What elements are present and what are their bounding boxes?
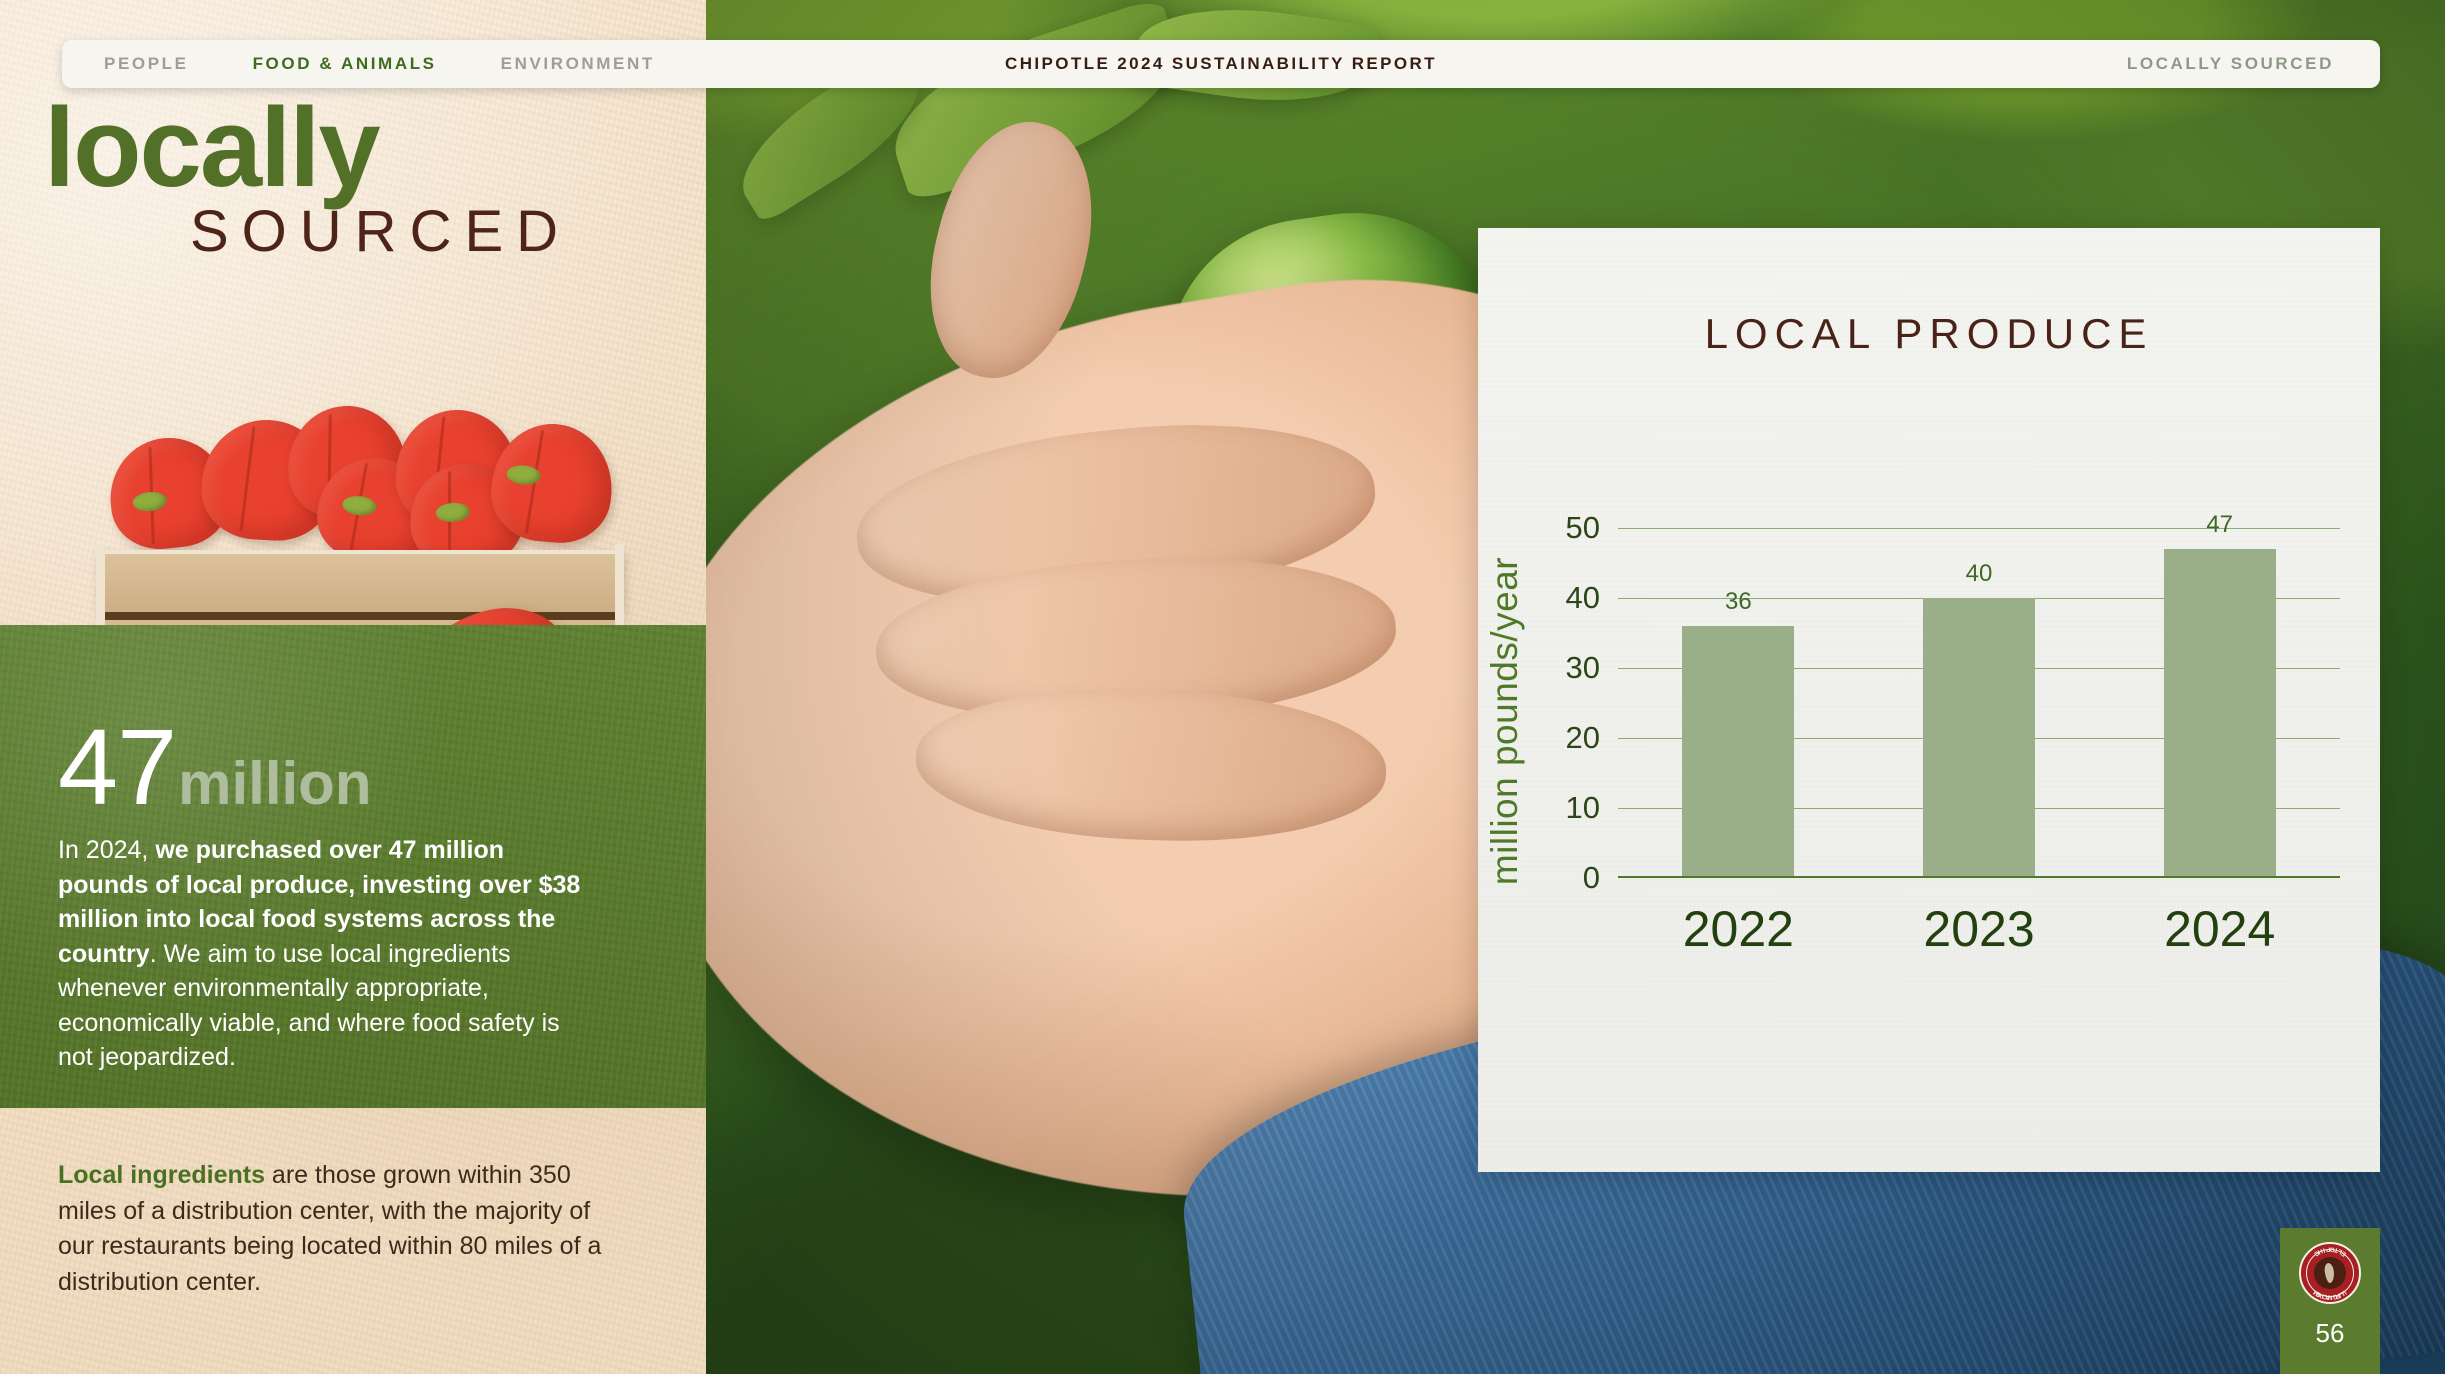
- seal-letter: E: [2340, 1249, 2348, 1257]
- page-number: 56: [2316, 1318, 2345, 1349]
- chart-y-tick: 50: [1566, 510, 1600, 546]
- chipotle-logo-icon: CHIPOTLEMEXICAN GRILL: [2299, 1242, 2361, 1304]
- stat-paragraph: In 2024, we purchased over 47 million po…: [58, 833, 588, 1075]
- stat-block: 47 million In 2024, we purchased over 47…: [0, 625, 706, 1108]
- nav-item-environment[interactable]: ENVIRONMENT: [501, 54, 655, 74]
- seal-pepper-glyph: [2314, 1257, 2346, 1289]
- nav-item-food-and-animals[interactable]: FOOD & ANIMALS: [253, 54, 437, 74]
- chart-y-tick: 30: [1566, 650, 1600, 686]
- chart-y-tick: 0: [1583, 860, 1600, 896]
- chart-x-tick: 2024: [2099, 900, 2340, 958]
- chart-x-tick: 2023: [1859, 900, 2100, 958]
- chart-bar-value: 47: [2206, 511, 2233, 539]
- chart-title: LOCAL PRODUCE: [1478, 310, 2380, 358]
- stat-number: 47: [58, 713, 176, 821]
- chart-bar[interactable]: 47: [2164, 549, 2276, 878]
- chart-bars: 364047: [1618, 528, 2340, 878]
- chart-y-tick: 10: [1566, 790, 1600, 826]
- chart-bar-slot: 36: [1618, 528, 1859, 878]
- footnote-paragraph: Local ingredients are those grown within…: [58, 1158, 618, 1300]
- chart-plot-area: 01020304050 364047: [1618, 528, 2340, 878]
- headline-line-sourced: SOURCED: [190, 203, 684, 261]
- headline-line-locally: locally: [44, 96, 684, 199]
- nav-item-people[interactable]: PEOPLE: [104, 54, 189, 74]
- chart-bar-value: 36: [1725, 588, 1752, 616]
- chart-bar[interactable]: 36: [1682, 626, 1794, 878]
- page-title: locally SOURCED: [44, 96, 684, 261]
- chart-y-tick: 40: [1566, 580, 1600, 616]
- footer-logo-badge: CHIPOTLEMEXICAN GRILL 56: [2280, 1228, 2380, 1374]
- chart-y-axis-label: million pounds/year: [1484, 506, 1526, 936]
- body-lead: In 2024,: [58, 836, 155, 864]
- nav-items: PEOPLE FOOD & ANIMALS ENVIRONMENT: [62, 54, 655, 74]
- chart-bar-value: 40: [1966, 560, 1993, 588]
- nav-item-locally-sourced[interactable]: LOCALLY SOURCED: [2127, 54, 2380, 74]
- top-navbar: PEOPLE FOOD & ANIMALS ENVIRONMENT CHIPOT…: [62, 40, 2380, 88]
- crate-front-slat: [96, 550, 624, 612]
- stat-unit: million: [178, 754, 371, 814]
- stat-headline: 47 million: [58, 713, 371, 821]
- chart-bar-slot: 40: [1859, 528, 2100, 878]
- chart-bar-slot: 47: [2099, 528, 2340, 878]
- chart-bar[interactable]: 40: [1923, 598, 2035, 878]
- chart-x-axis-labels: 202220232024: [1618, 900, 2340, 958]
- footnote-bold: Local ingredients: [58, 1161, 265, 1189]
- chart-x-tick: 2022: [1618, 900, 1859, 958]
- chart-y-tick: 20: [1566, 720, 1600, 756]
- chart-axis-baseline: [1618, 876, 2340, 878]
- chart-card: LOCAL PRODUCE million pounds/year 010203…: [1478, 228, 2380, 1172]
- left-panel: locally SOURCED 47 million In 2024, we p…: [0, 0, 706, 1374]
